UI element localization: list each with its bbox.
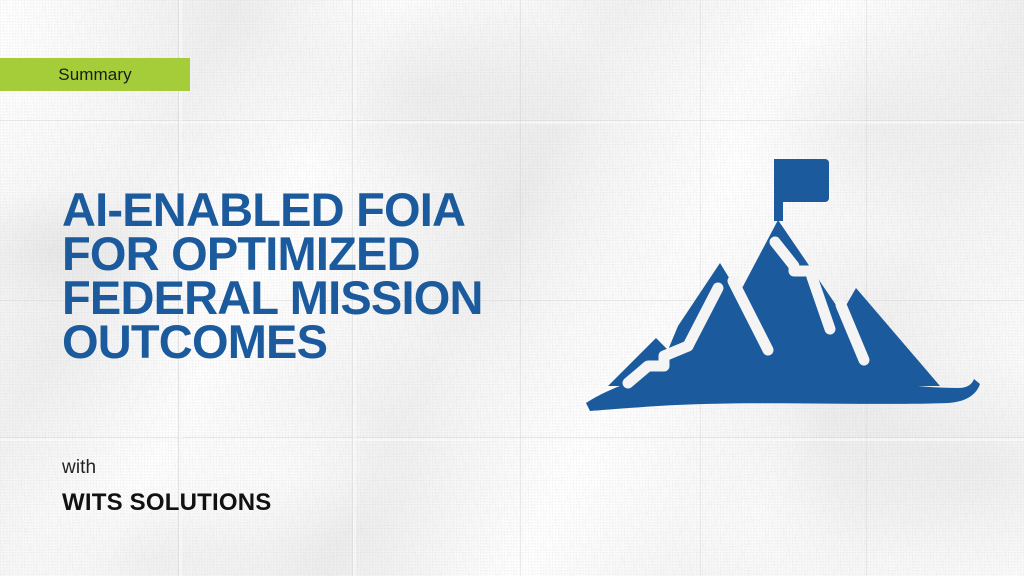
page-title-line-3: FEDERAL MISSION [62,276,592,320]
mountain-summit-flag-icon [568,138,998,428]
page-title-line-1: AI-ENABLED FOIA [62,188,592,232]
page-title-line-2: FOR OPTIMIZED [62,232,592,276]
flag-pole-shape [774,159,783,221]
page-title: AI-ENABLED FOIA FOR OPTIMIZED FEDERAL MI… [62,188,592,364]
mountain-icon-svg [568,138,998,428]
summary-badge-label: Summary [58,66,131,83]
credit-with-label: with [62,455,271,481]
flag-banner-shape [775,159,829,202]
page-title-line-4: OUTCOMES [62,320,592,364]
slide-canvas: Summary AI-ENABLED FOIA FOR OPTIMIZED FE… [0,0,1024,576]
summary-badge: Summary [0,58,190,91]
presenter-credit: with WITS SOLUTIONS [62,455,271,516]
credit-company-name: WITS SOLUTIONS [62,490,271,516]
